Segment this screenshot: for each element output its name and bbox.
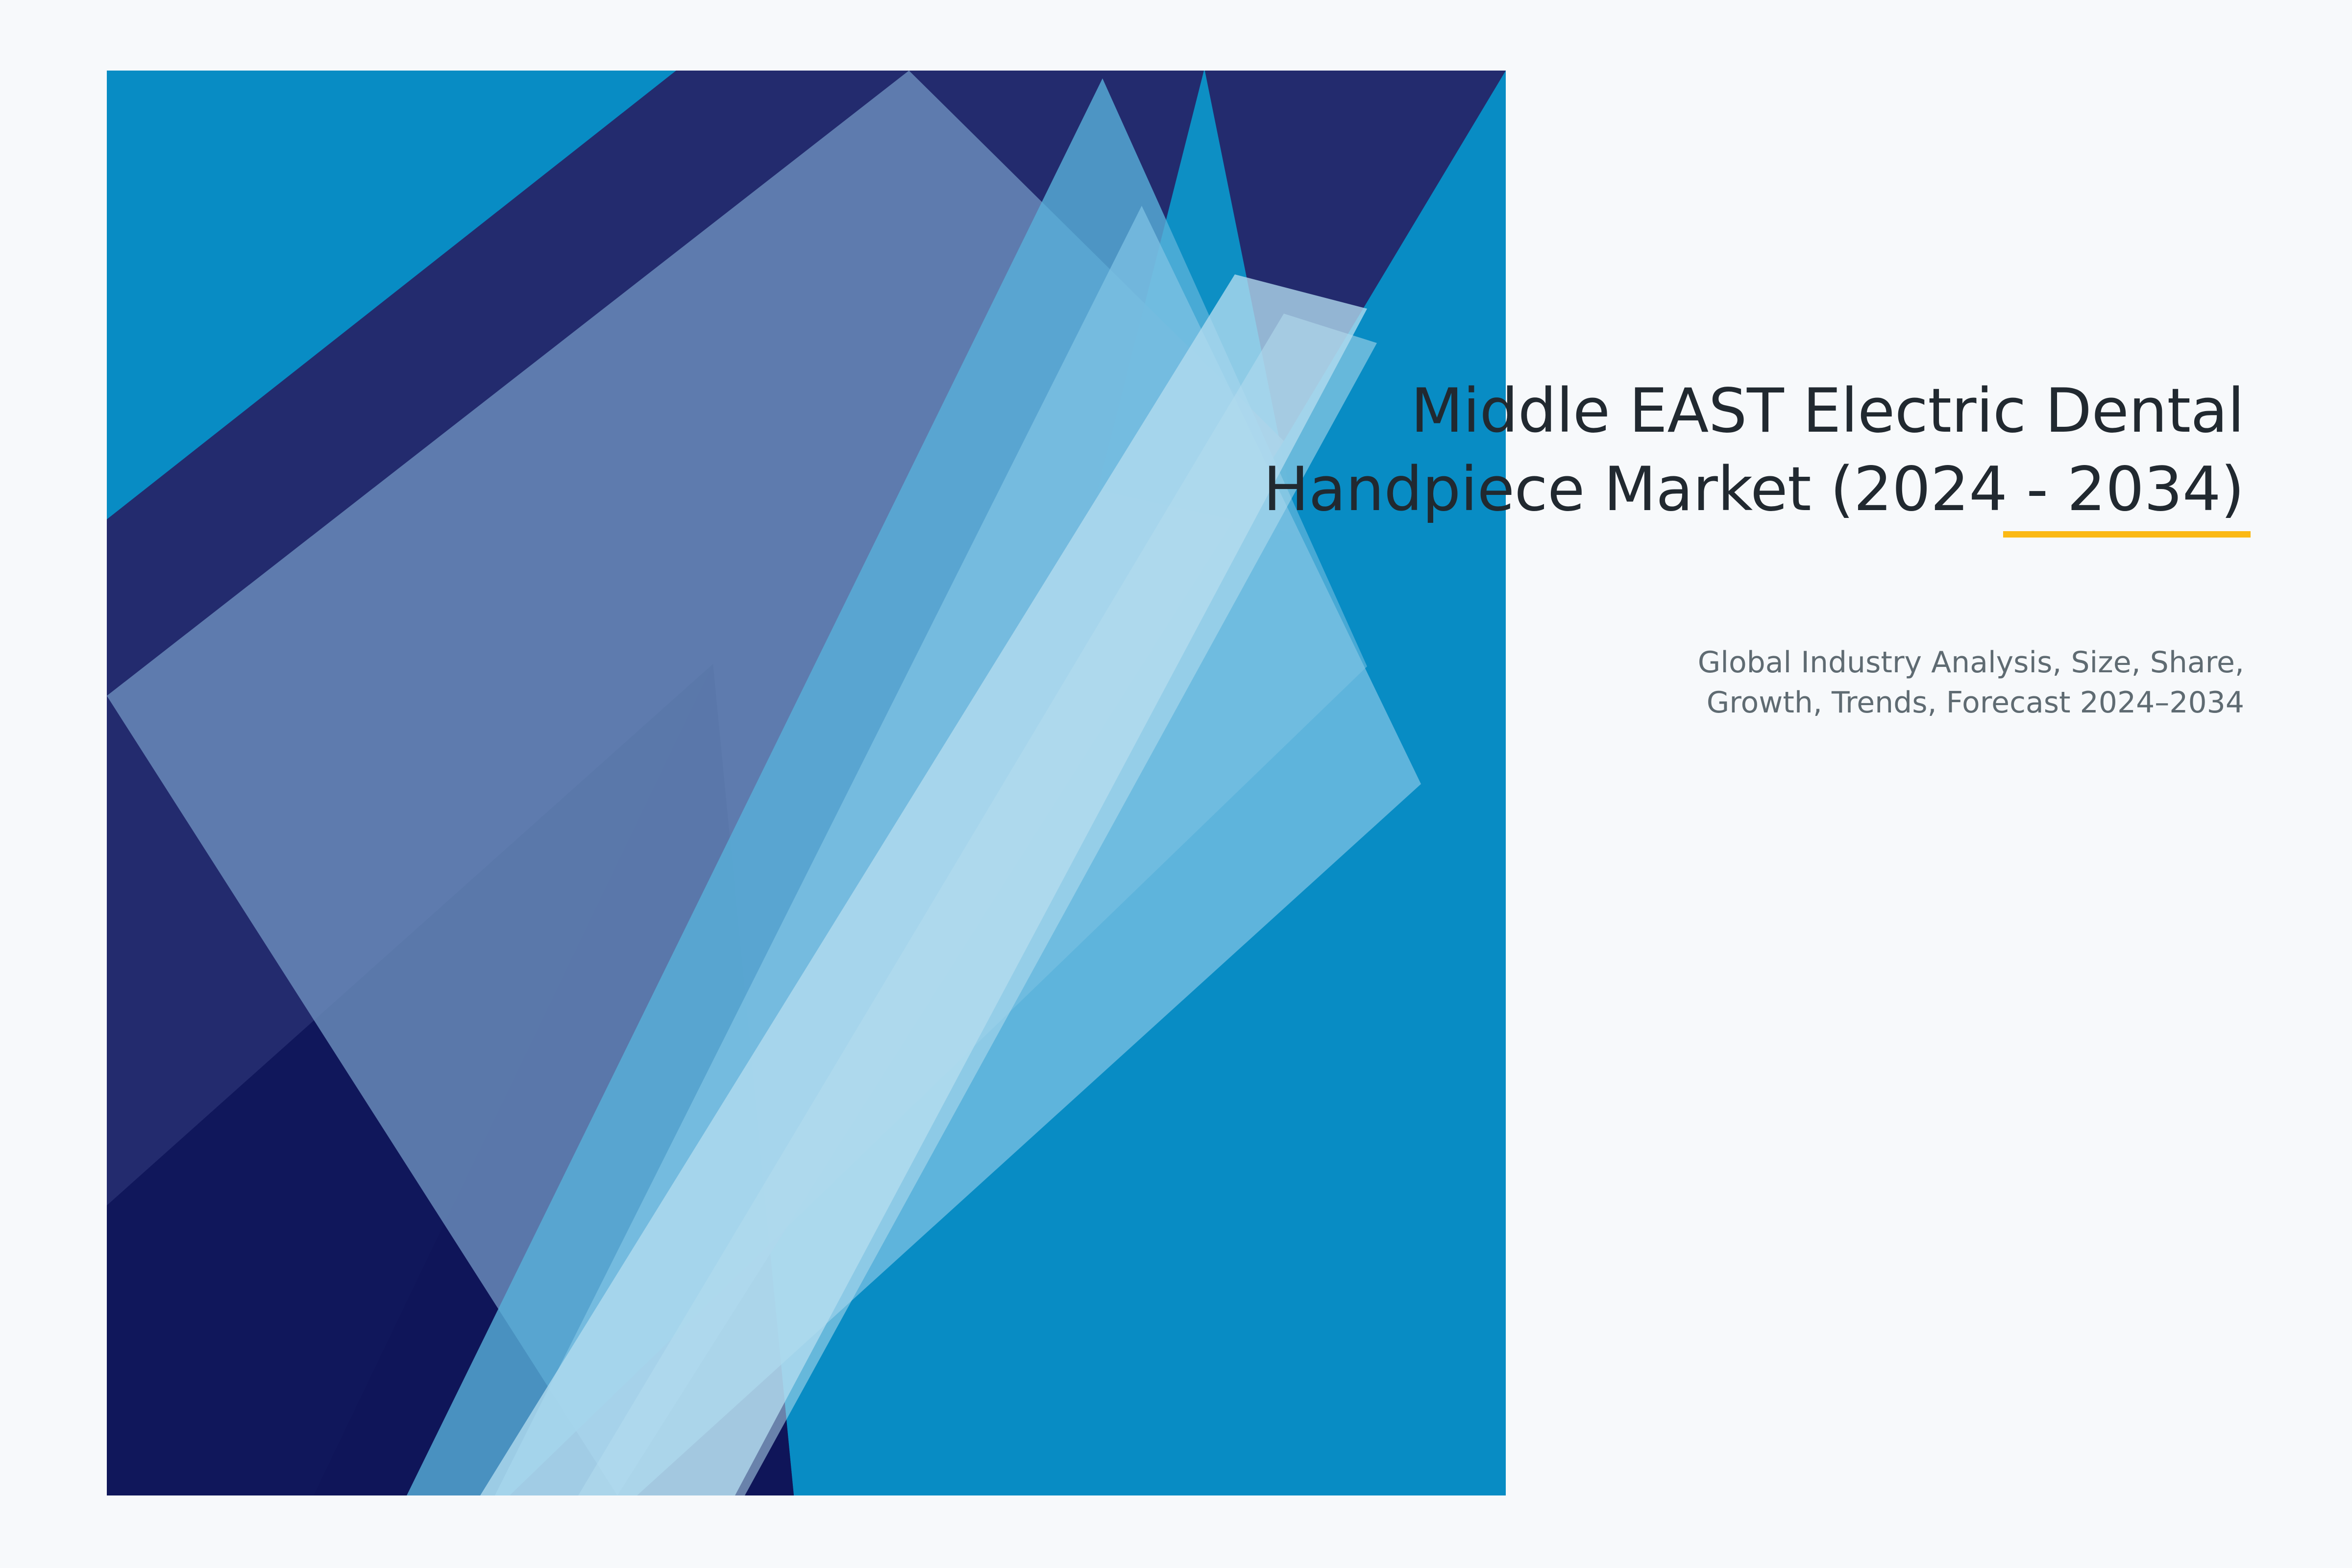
abstract-geometric-cover-graphic	[0, 0, 2352, 1568]
cover-text-block: Middle EAST Electric Dental Handpiece Ma…	[1029, 372, 2244, 529]
cover-slide: Middle EAST Electric Dental Handpiece Ma…	[0, 0, 2352, 1568]
title-accent-underline	[2003, 531, 2251, 538]
page-subtitle: Global Industry Analysis, Size, Share, G…	[1274, 643, 2244, 723]
page-title: Middle EAST Electric Dental Handpiece Ma…	[1029, 372, 2244, 529]
cover-subtitle-block: Global Industry Analysis, Size, Share, G…	[1274, 643, 2244, 723]
